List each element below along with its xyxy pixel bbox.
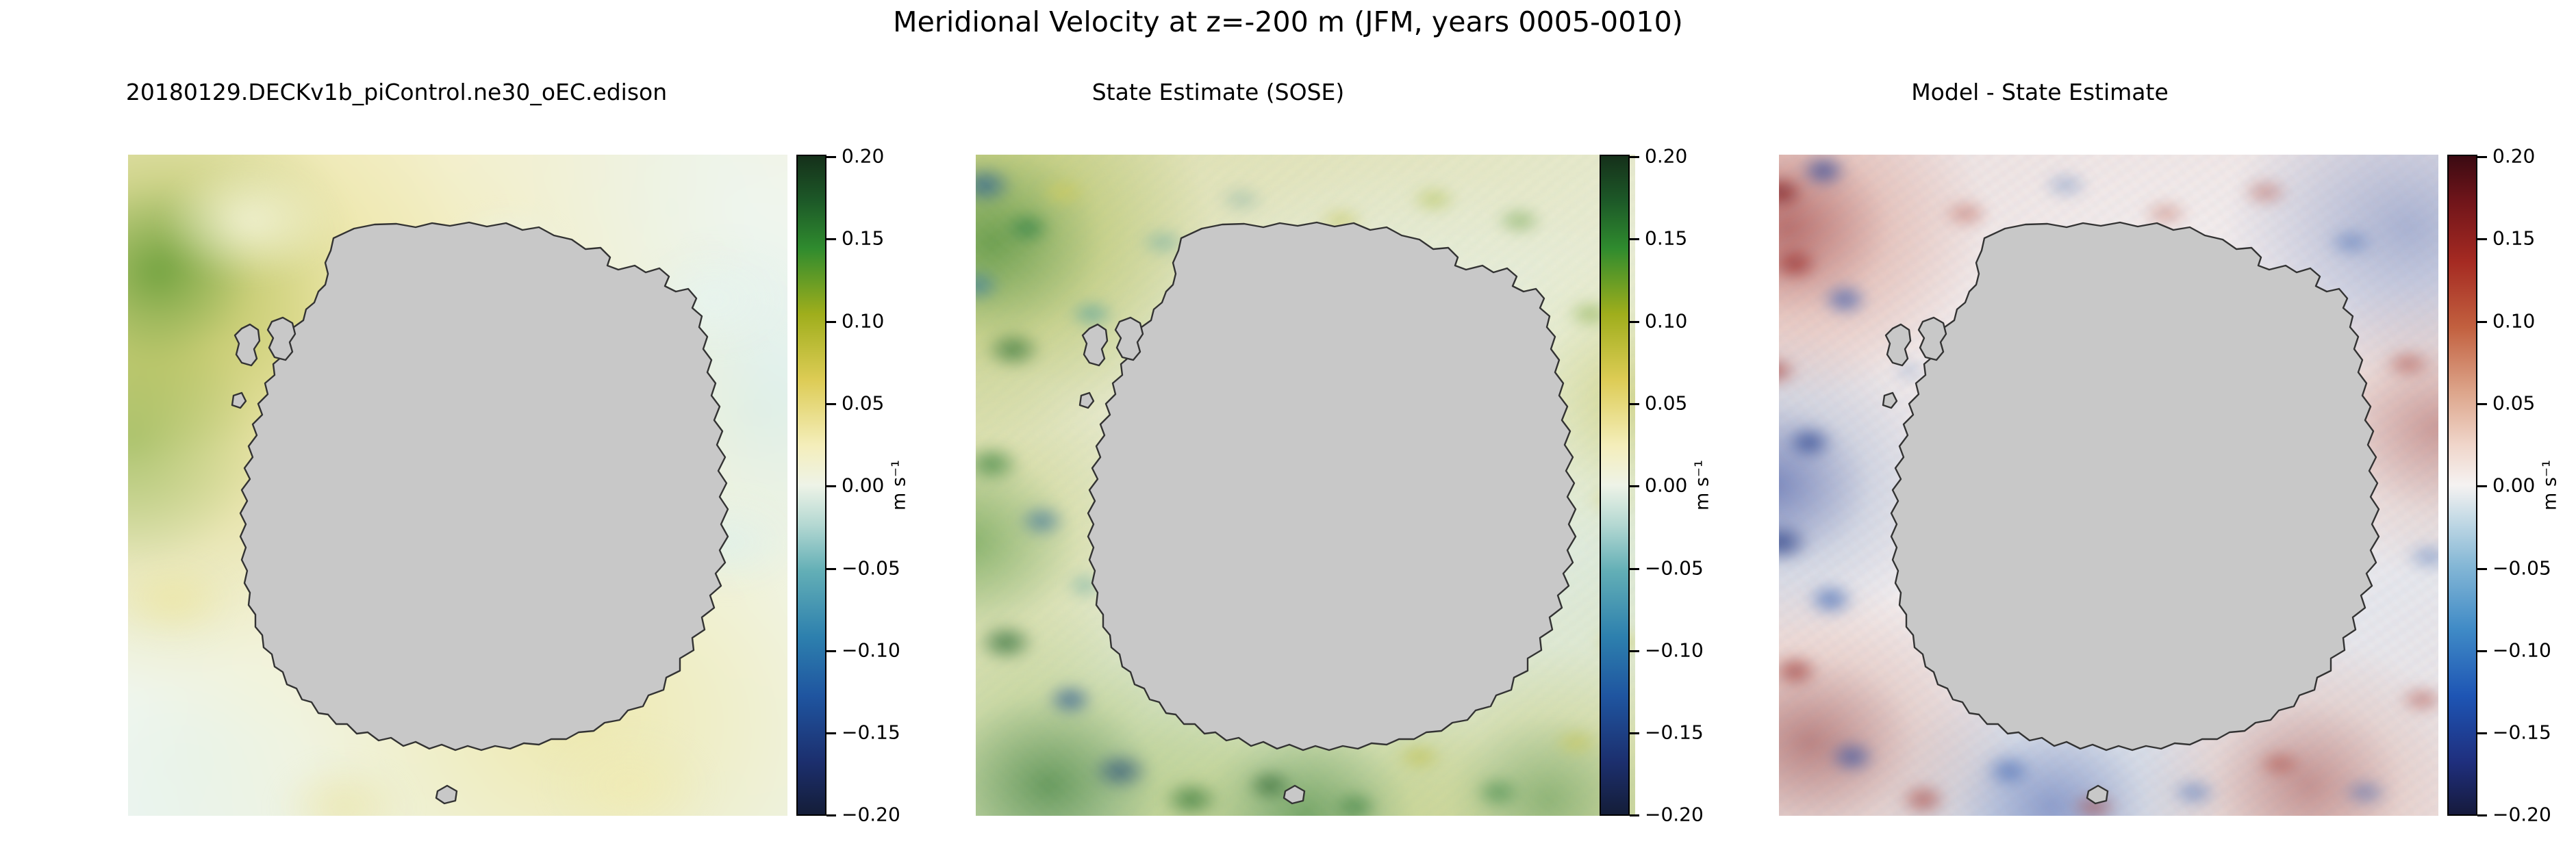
colorbar-tick-label: −0.05 — [2492, 557, 2551, 580]
map-panel-model — [128, 155, 787, 816]
antarctica-landmass-state-estimate — [976, 155, 1635, 816]
colorbar-tick-label: −0.15 — [1645, 721, 1704, 744]
colorbar-tick-label: 0.05 — [1645, 392, 1687, 415]
colorbar-tick-label: −0.15 — [2492, 721, 2551, 744]
colorbar-tick-label: −0.20 — [1645, 803, 1704, 826]
map-panel-difference — [1779, 155, 2438, 816]
colorbar-tick-label: −0.05 — [1645, 557, 1704, 580]
colorbar-tick-label: −0.10 — [2492, 639, 2551, 662]
colorbar-unit-label: m s⁻¹ — [2540, 460, 2561, 511]
colorbar-tick-label: −0.15 — [842, 721, 900, 744]
colorbar-tick-label: 0.15 — [2492, 227, 2535, 250]
colorbar-tick-label: −0.20 — [2492, 803, 2551, 826]
colorbar-tick-label: −0.10 — [842, 639, 900, 662]
figure-suptitle: Meridional Velocity at z=-200 m (JFM, ye… — [0, 5, 2576, 38]
colorbar-tick-label: 0.15 — [842, 227, 884, 250]
antarctica-landmass-difference — [1779, 155, 2438, 816]
figure-canvas: Meridional Velocity at z=-200 m (JFM, ye… — [0, 0, 2576, 850]
panel-title-state-estimate: State Estimate (SOSE) — [822, 79, 1615, 105]
colorbar-gradient-delta — [1600, 155, 1630, 816]
colorbar-tick-label: 0.10 — [2492, 310, 2535, 333]
map-panel-state-estimate — [976, 155, 1635, 816]
colorbar-tick-label: −0.05 — [842, 557, 900, 580]
colorbar-tick-label: 0.10 — [1645, 310, 1687, 333]
panel-title-model: 20180129.DECKv1b_piControl.ne30_oEC.edis… — [0, 79, 793, 105]
colorbar-gradient-delta — [796, 155, 826, 816]
colorbar-tick-label: 0.00 — [842, 474, 884, 497]
colorbar-tick-label: 0.00 — [2492, 474, 2535, 497]
colorbar-tick-label: 0.05 — [842, 392, 884, 415]
colorbar-tick-label: 0.05 — [2492, 392, 2535, 415]
colorbar-tick-label: −0.20 — [842, 803, 900, 826]
colorbar-unit-label: m s⁻¹ — [1692, 460, 1713, 511]
colorbar-tick-label: 0.15 — [1645, 227, 1687, 250]
colorbar-tick-label: 0.10 — [842, 310, 884, 333]
colorbar-unit-label: m s⁻¹ — [889, 460, 910, 511]
colorbar-tick-label: 0.20 — [2492, 145, 2535, 168]
colorbar-tick-label: −0.10 — [1645, 639, 1704, 662]
colorbar-tick-label: 0.20 — [1645, 145, 1687, 168]
antarctica-landmass-model — [128, 155, 787, 816]
panel-title-difference: Model - State Estimate — [1643, 79, 2436, 105]
colorbar-tick-label: 0.00 — [1645, 474, 1687, 497]
colorbar-tick-label: 0.20 — [842, 145, 884, 168]
colorbar-gradient-rdbu — [2447, 155, 2477, 816]
